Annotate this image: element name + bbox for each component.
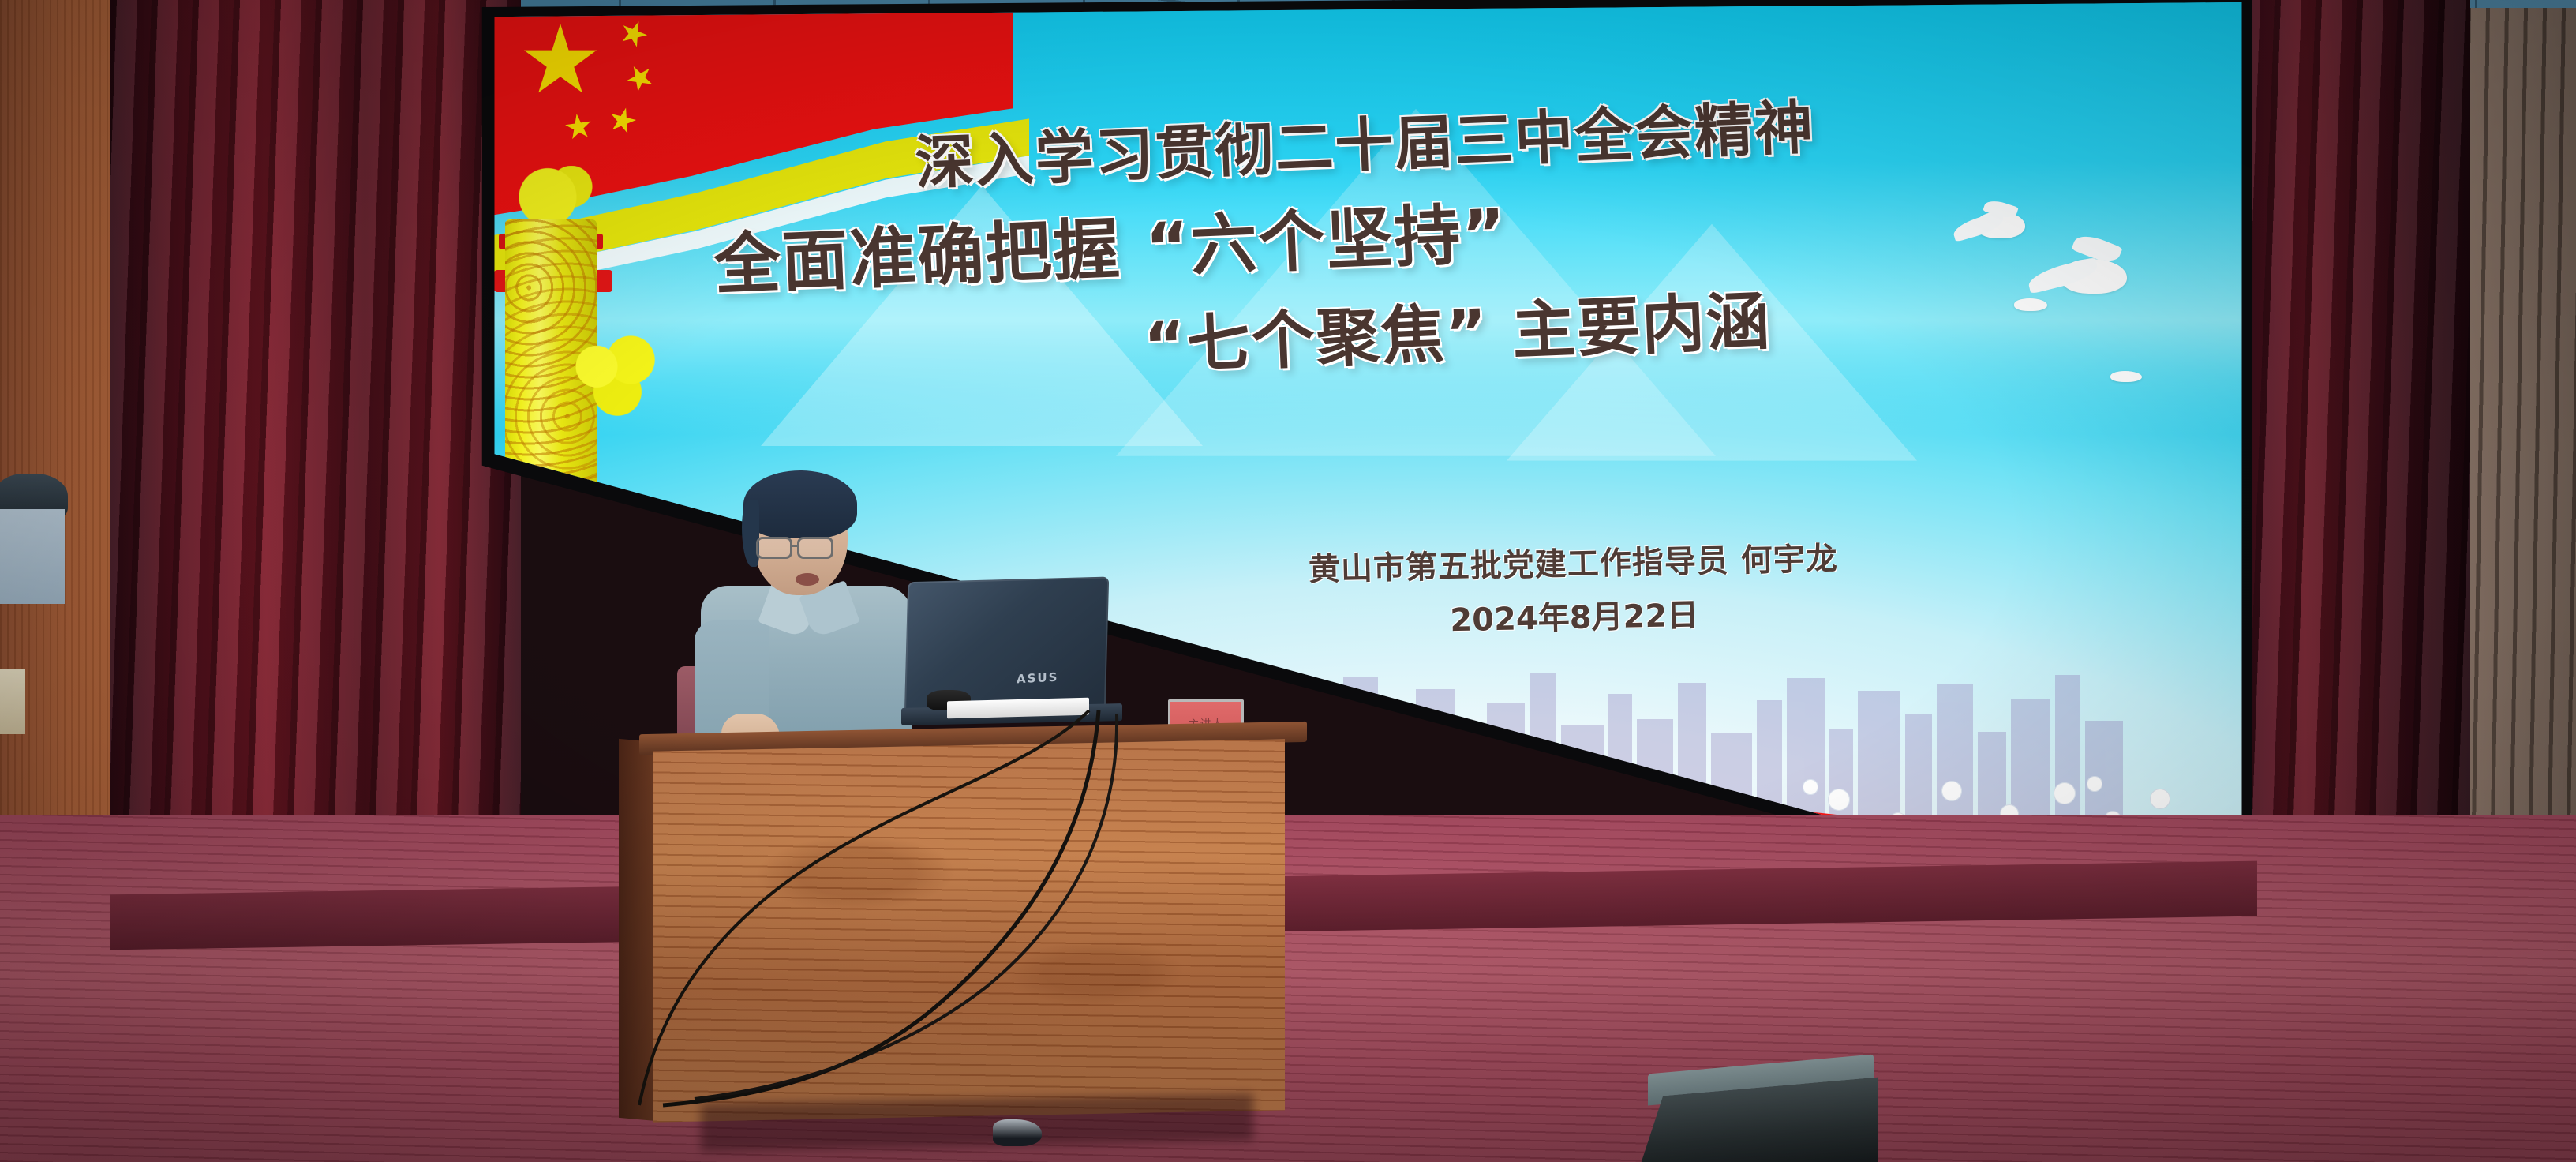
desk-wood-grain	[653, 739, 1285, 1122]
desk-front-panel	[653, 739, 1285, 1122]
open-book	[947, 698, 1089, 719]
laptop-brand-label: ASUS	[1017, 670, 1058, 687]
presenter-hair	[743, 470, 857, 538]
glasses-lens-left	[756, 537, 792, 559]
presenter-mouth	[796, 573, 819, 586]
wall-mounted-panel	[0, 509, 65, 604]
flower-11	[1645, 785, 1661, 801]
desk-side-panel	[619, 739, 657, 1121]
desk-floor-shadow	[701, 1093, 1253, 1151]
flower-2	[1717, 789, 1735, 806]
lectern-desk	[653, 728, 1293, 1154]
glasses-bridge	[792, 545, 799, 547]
date-line: 2024年8月22日	[1274, 586, 1874, 644]
laptop-computer[interactable]: ASUS	[906, 579, 1111, 722]
stage-monitor-speaker	[1634, 1064, 1878, 1162]
slide-subtitle: 黄山市第五批党建工作指导员 何宇龙 2024年8月22日	[1273, 532, 1874, 644]
glasses-lens-right	[797, 537, 833, 559]
presenter-figure	[695, 477, 931, 737]
presenter-shoe	[993, 1119, 1042, 1146]
presenter-line: 黄山市第五批党建工作指导员 何宇龙	[1273, 532, 1874, 590]
presenter-hair-side	[742, 500, 759, 567]
conference-hall-photo: 深入学习贯彻二十届三中全会精神 全面准确把握 “六个坚持” “七个聚焦” 主要内…	[0, 0, 2576, 1162]
wall-mounted-notice	[0, 669, 25, 734]
slide-title: 深入学习贯彻二十届三中全会精神 全面准确把握 “六个坚持” “七个聚焦” 主要内…	[709, 65, 2203, 403]
